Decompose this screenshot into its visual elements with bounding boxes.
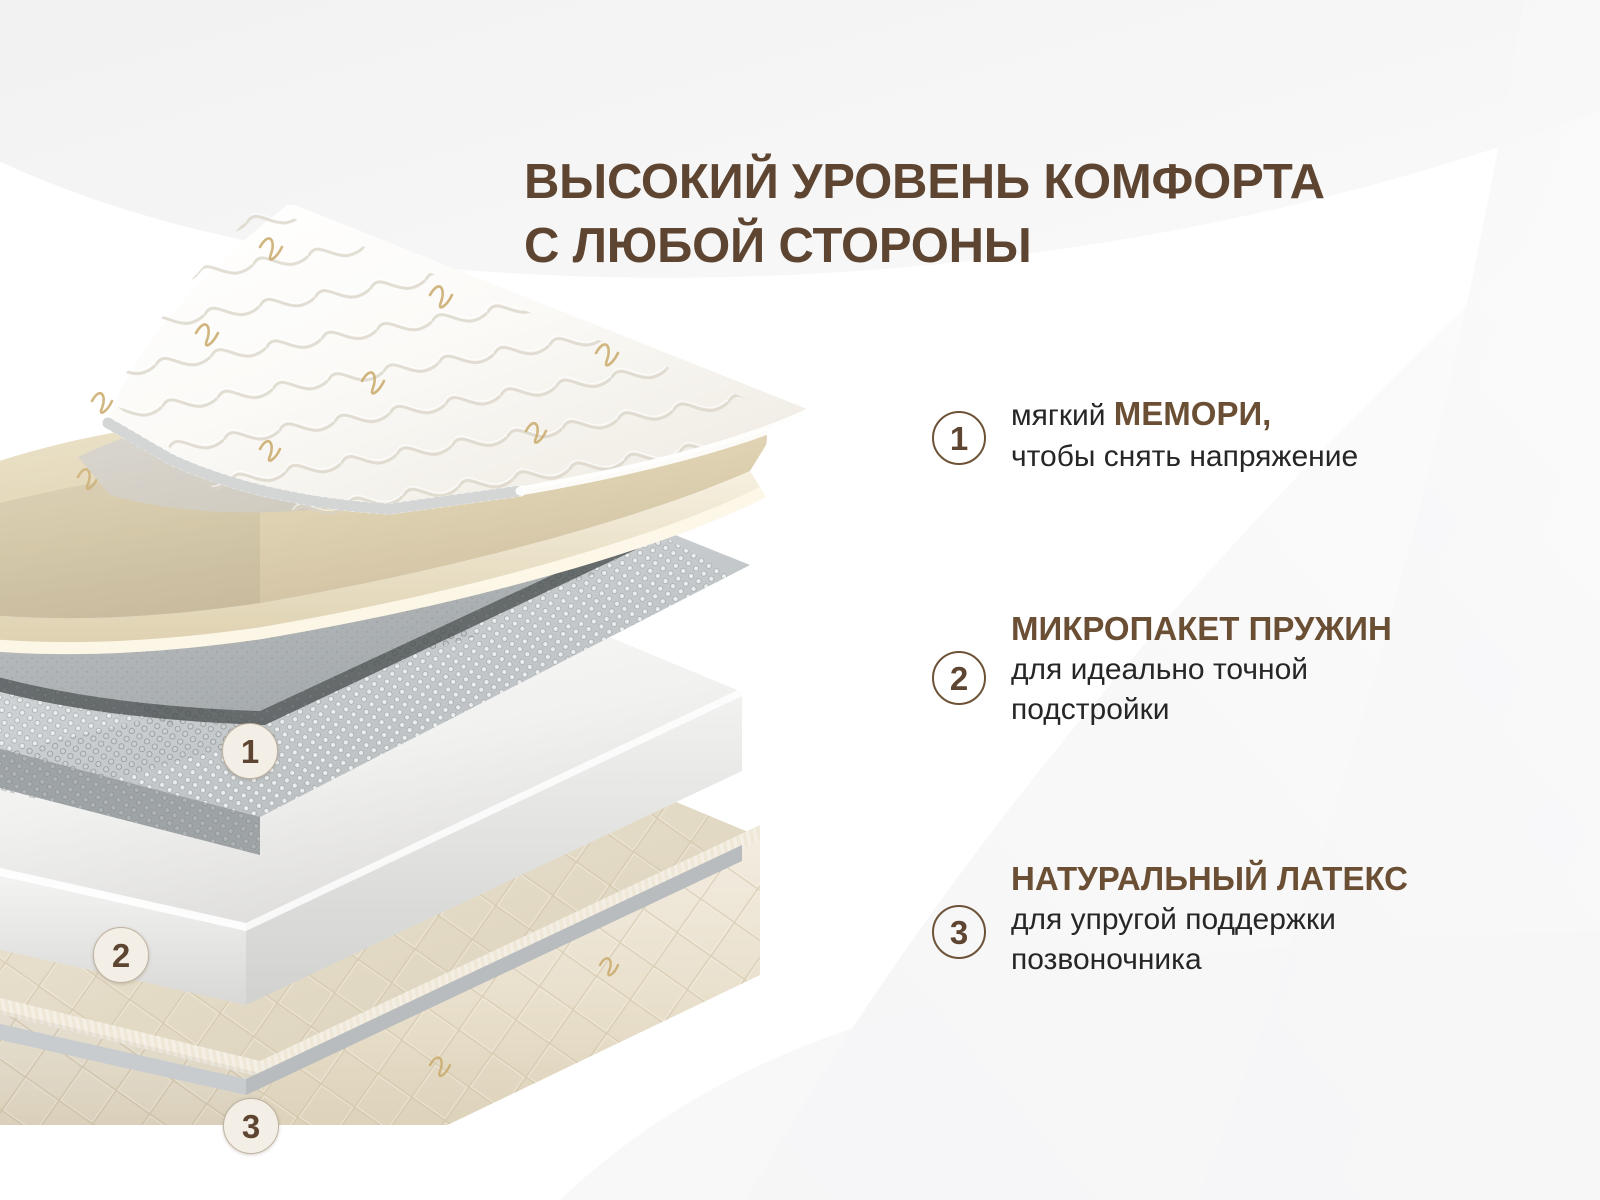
- legend-badge-1: 1: [932, 411, 986, 465]
- legend-text-3: НАТУРАЛЬНЫЙ ЛАТЕКС для упругой поддержки…: [1011, 858, 1408, 981]
- legend-line-2c: подстройки: [1011, 690, 1392, 731]
- legend-badge-2: 2: [932, 651, 986, 705]
- legend-line-3b: для упругой поддержки: [1011, 900, 1408, 941]
- feature-legend: 1 мягкий МЕМОРИ, чтобы снять напряжение …: [932, 0, 1532, 1200]
- legend-title-3: НАТУРАЛЬНЫЙ ЛАТЕКС: [1011, 858, 1408, 900]
- legend-item-springs: 2 МИКРОПАКЕТ ПРУЖИН для идеально точной …: [932, 608, 1392, 731]
- mattress-badge-1: 1: [222, 723, 278, 779]
- legend-line-2b: для идеально точной: [1011, 650, 1392, 691]
- mattress-svg: [0, 205, 860, 1125]
- legend-badge-3: 3: [932, 905, 986, 959]
- legend-text-1: мягкий МЕМОРИ, чтобы снять напряжение: [1011, 392, 1358, 478]
- legend-line-1b: чтобы снять напряжение: [1011, 437, 1358, 478]
- mattress-illustration: 1 2 3: [0, 205, 860, 1125]
- legend-item-memory: 1 мягкий МЕМОРИ, чтобы снять напряжение: [932, 392, 1358, 478]
- legend-line-1a: мягкий МЕМОРИ,: [1011, 392, 1358, 437]
- legend-line-3c: позвоночника: [1011, 940, 1408, 981]
- legend-text-2: МИКРОПАКЕТ ПРУЖИН для идеально точной по…: [1011, 608, 1392, 731]
- mattress-badge-3: 3: [223, 1098, 279, 1154]
- mattress-badge-2: 2: [93, 927, 149, 983]
- legend-prefix-1: мягкий: [1011, 399, 1114, 432]
- legend-title-2: МИКРОПАКЕТ ПРУЖИН: [1011, 608, 1392, 650]
- legend-item-latex: 3 НАТУРАЛЬНЫЙ ЛАТЕКС для упругой поддерж…: [932, 858, 1408, 981]
- legend-highlight-1: МЕМОРИ,: [1114, 395, 1272, 432]
- infographic-canvas: ВЫСОКИЙ УРОВЕНЬ КОМФОРТА С ЛЮБОЙ СТОРОНЫ: [0, 0, 1600, 1200]
